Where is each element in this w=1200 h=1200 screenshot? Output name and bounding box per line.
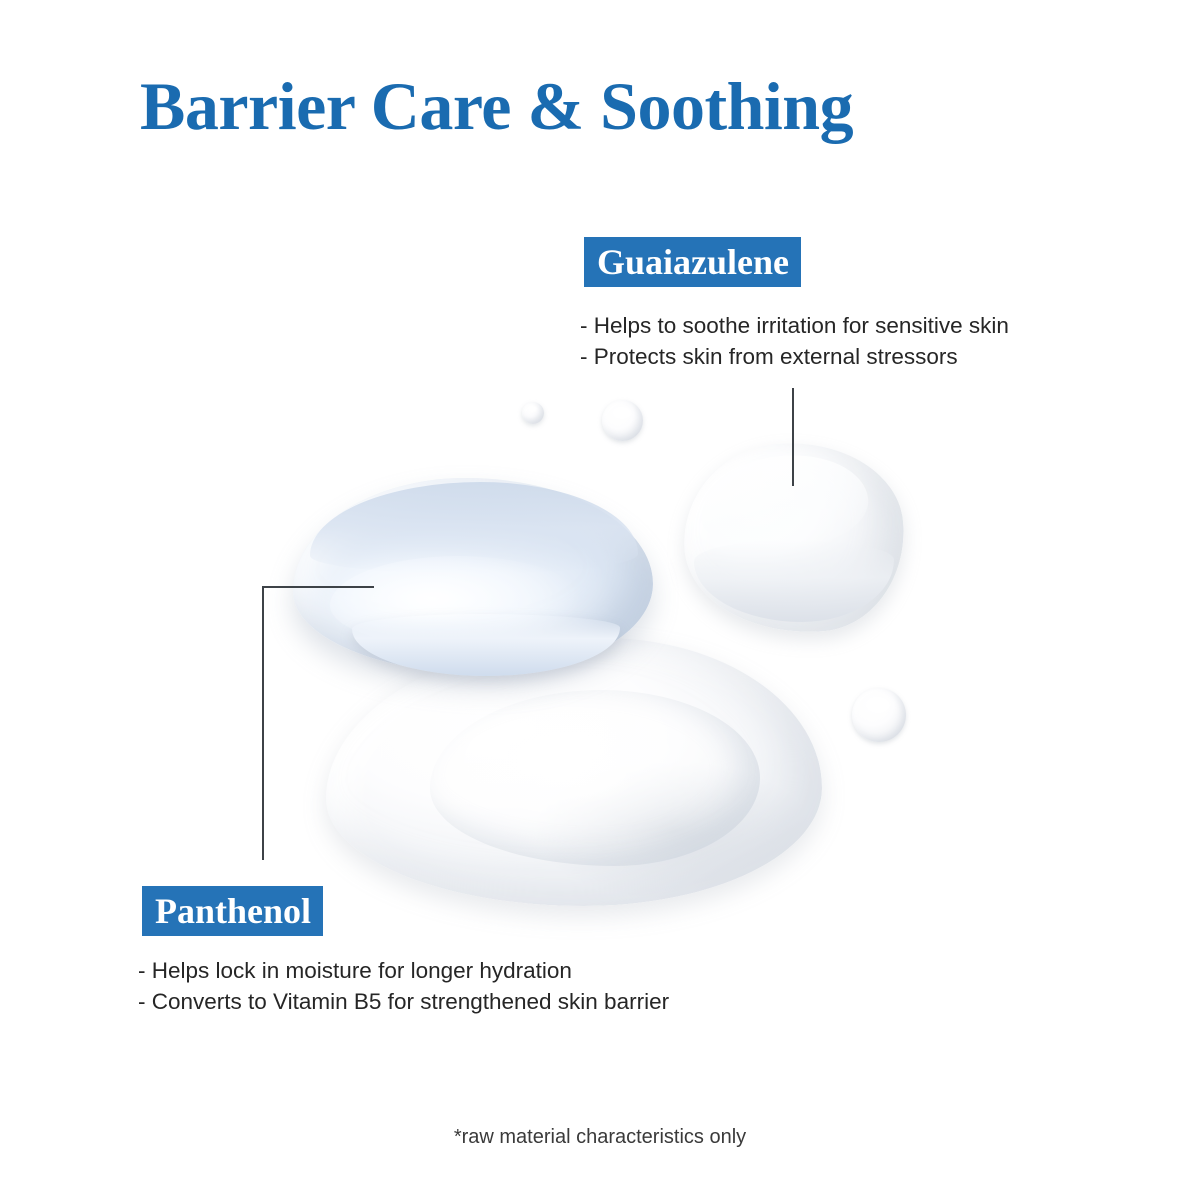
blue-cream-swatch (293, 478, 653, 674)
guaiazulene-leader-line (792, 388, 794, 486)
blue-cream-top-rim (310, 482, 638, 574)
benefit-item: - Protects skin from external stressors (580, 341, 1009, 372)
page-title: Barrier Care & Soothing (140, 72, 1080, 140)
benefit-item: - Helps lock in moisture for longer hydr… (138, 955, 669, 986)
clear-gel-facet-highlight (696, 447, 873, 556)
ingredient-benefits-panthenol: - Helps lock in moisture for longer hydr… (138, 955, 669, 1017)
benefit-item: - Helps to soothe irritation for sensiti… (580, 310, 1009, 341)
product-texture-image (0, 0, 1200, 1200)
droplet-right (852, 688, 906, 742)
white-cream-swatch (326, 638, 822, 906)
benefit-item: - Converts to Vitamin B5 for strengthene… (138, 986, 669, 1017)
ingredient-label-panthenol: Panthenol (142, 886, 323, 936)
clear-gel-shadow-edge (694, 540, 894, 622)
blue-cream-core-highlight (330, 556, 586, 648)
ingredient-benefits-guaiazulene: - Helps to soothe irritation for sensiti… (580, 310, 1009, 372)
infographic-page: Barrier Care & Soothing Guaiazulene - He… (0, 0, 1200, 1200)
white-cream-specular-highlight (470, 736, 676, 822)
droplet-tiny (522, 402, 544, 424)
droplet-small (602, 400, 643, 441)
white-cream-swirl-highlight (430, 690, 760, 866)
ingredient-label-guaiazulene: Guaiazulene (584, 237, 801, 287)
footnote-disclaimer: *raw material characteristics only (0, 1126, 1200, 1149)
blue-cream-lower-lip (352, 614, 620, 676)
panthenol-leader-line-vertical (262, 586, 264, 860)
clear-gel-swatch (678, 436, 911, 641)
panthenol-leader-line-horizontal (262, 586, 374, 588)
